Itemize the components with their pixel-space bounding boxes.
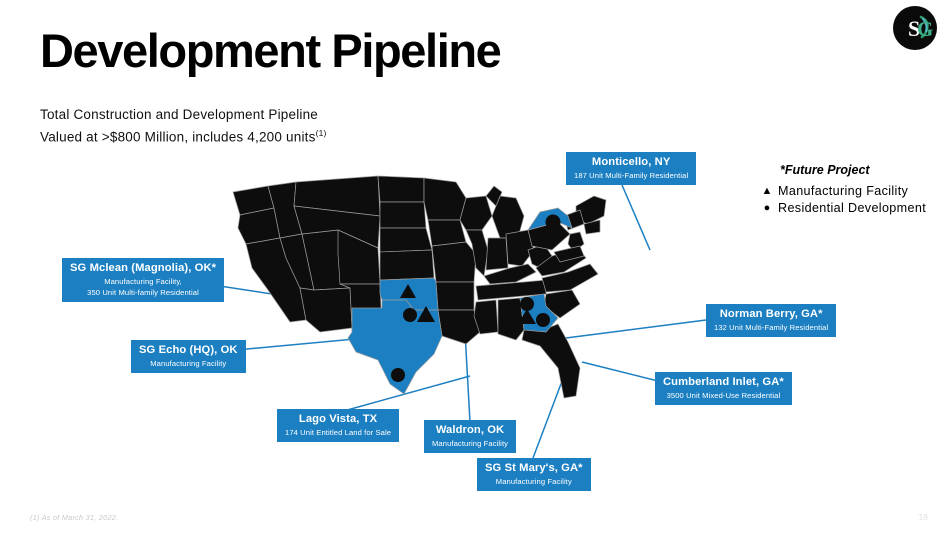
svg-text:G: G	[917, 17, 933, 41]
triangle-marker-icon: ▲	[756, 186, 778, 197]
circle-marker-icon: ●	[756, 203, 778, 214]
page-title: Development Pipeline	[40, 26, 500, 75]
callout-title: Cumberland Inlet, GA*	[663, 375, 784, 390]
callout-waldron[interactable]: Waldron, OK Manufacturing Facility	[424, 420, 516, 453]
callout-subtitle: 174 Unit Entitled Land for Sale	[285, 427, 391, 438]
callout-title: Monticello, NY	[574, 155, 688, 170]
legend-item-manufacturing: ▲ Manufacturing Facility	[756, 184, 946, 198]
callout-title: SG Echo (HQ), OK	[139, 343, 238, 358]
marker-circle-norman-berry	[520, 297, 534, 311]
subtitle-line-2-text: Valued at >$800 Million, includes 4,200 …	[40, 130, 316, 145]
legend-item-residential: ● Residential Development	[756, 201, 946, 215]
callout-subtitle: 3500 Unit Mixed-Use Residential	[663, 390, 784, 401]
marker-circle-cumberland	[536, 313, 550, 327]
legend-title: *Future Project	[780, 163, 946, 177]
callout-subtitle: Manufacturing Facility,	[70, 276, 216, 287]
callout-sg-st-marys[interactable]: SG St Mary's, GA* Manufacturing Facility	[477, 458, 591, 491]
callout-monticello[interactable]: Monticello, NY 187 Unit Multi-Family Res…	[566, 152, 696, 185]
subtitle-footnote-marker: (1)	[316, 128, 327, 138]
callout-title: Waldron, OK	[432, 423, 508, 438]
callout-title: SG Mclean (Magnolia), OK*	[70, 261, 216, 276]
callout-lago-vista[interactable]: Lago Vista, TX 174 Unit Entitled Land fo…	[277, 409, 399, 442]
callout-subtitle-2: 350 Unit Multi-family Residential	[70, 287, 216, 298]
legend-item-label: Manufacturing Facility	[778, 184, 908, 198]
legend-item-label: Residential Development	[778, 201, 926, 215]
callout-cumberland-inlet[interactable]: Cumberland Inlet, GA* 3500 Unit Mixed-Us…	[655, 372, 792, 405]
callout-title: Norman Berry, GA*	[714, 307, 828, 322]
us-map	[228, 172, 698, 442]
callout-title: Lago Vista, TX	[285, 412, 391, 427]
page-number: 18	[919, 512, 928, 522]
map-legend: *Future Project ▲ Manufacturing Facility…	[756, 163, 946, 218]
marker-circle-lago-vista	[391, 368, 405, 382]
callout-subtitle: 187 Unit Multi-Family Residential	[574, 170, 688, 181]
callout-subtitle: Manufacturing Facility	[139, 358, 238, 369]
callout-subtitle: Manufacturing Facility	[432, 438, 508, 449]
footnote: (1) As of March 31, 2022.	[30, 513, 118, 522]
callout-subtitle: Manufacturing Facility	[485, 476, 583, 487]
callout-norman-berry[interactable]: Norman Berry, GA* 132 Unit Multi-Family …	[706, 304, 836, 337]
us-map-svg	[228, 172, 698, 442]
page-subtitle: Total Construction and Development Pipel…	[40, 104, 327, 149]
callout-sg-echo[interactable]: SG Echo (HQ), OK Manufacturing Facility	[131, 340, 246, 373]
marker-circle-sg-echo	[403, 308, 417, 322]
callout-subtitle: 132 Unit Multi-Family Residential	[714, 322, 828, 333]
slide-canvas: Development Pipeline Total Construction …	[0, 0, 950, 534]
subtitle-line-1: Total Construction and Development Pipel…	[40, 104, 327, 126]
subtitle-line-2: Valued at >$800 Million, includes 4,200 …	[40, 126, 327, 149]
callout-sg-mclean[interactable]: SG Mclean (Magnolia), OK* Manufacturing …	[62, 258, 224, 302]
sg-logo: S G	[892, 5, 938, 51]
marker-circle-monticello	[546, 215, 561, 230]
callout-title: SG St Mary's, GA*	[485, 461, 583, 476]
